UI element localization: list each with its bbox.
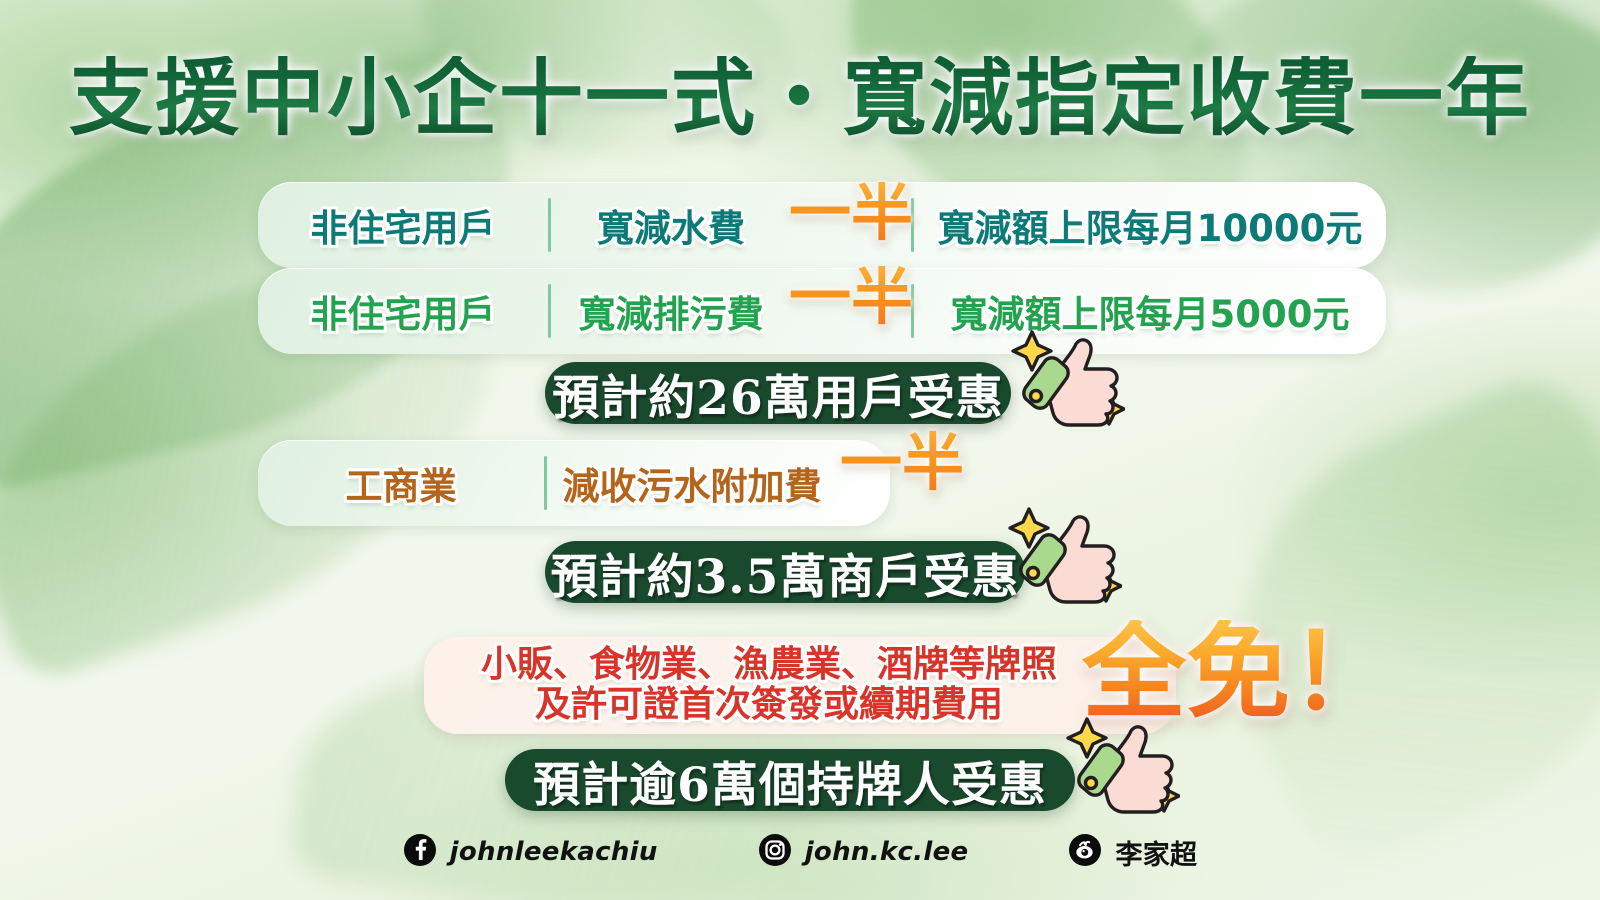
social-weibo[interactable]: 李家超 <box>1068 833 1197 872</box>
row-3-measure: 減收污水附加費 <box>547 456 837 510</box>
license-fee-text: 小販、食物業、漁農業、酒牌等牌照 及許可證首次簽發或續期費用 <box>424 645 1114 726</box>
social-facebook[interactable]: johnleekachiu <box>403 833 658 871</box>
row-3-user-type: 工商業 <box>258 456 544 510</box>
row-2-user-type: 非住宅用戶 <box>258 284 548 338</box>
poster-canvas: 支援中小企十一式・寬減指定收費一年 非住宅用戶 寬減水費 一半 寬減額上限每月1… <box>0 0 1600 900</box>
row-2-amount: 一半 <box>789 266 913 328</box>
benefit-banner-1: 預計約26萬用戶受惠 <box>545 362 1011 424</box>
row-2-amount-wrap: 一半 <box>791 280 911 342</box>
benefit-banner-2: 預計約3.5萬商戶受惠 <box>545 541 1025 603</box>
row-2-cap: 寬減額上限每月5000元 <box>914 284 1386 338</box>
row-3-amount: 一半 <box>840 426 964 499</box>
row-1-measure: 寬減水費 <box>551 198 791 252</box>
row-1-amount: 一半 <box>789 182 913 244</box>
facebook-icon <box>403 833 437 871</box>
benefit-row-1-content: 非住宅用戶 寬減水費 一半 寬減額上限每月10000元 <box>258 182 1386 268</box>
row-1-user-type: 非住宅用戶 <box>258 198 548 252</box>
facebook-handle: johnleekachiu <box>450 837 658 867</box>
row-1-cap: 寬減額上限每月10000元 <box>914 198 1386 252</box>
benefit-banner-3-text: 預計逾6萬個持牌人受惠 <box>533 746 1047 815</box>
license-fee-line-1: 小販、食物業、漁農業、酒牌等牌照 <box>481 645 1057 685</box>
benefit-row-2-content: 非住宅用戶 寬減排污費 一半 寬減額上限每月5000元 <box>258 268 1386 354</box>
instagram-icon <box>758 833 792 871</box>
license-fee-highlight: 全免！ <box>1082 620 1394 724</box>
row-1-amount-wrap: 一半 <box>791 194 911 256</box>
row-2-measure: 寬減排污費 <box>551 284 791 338</box>
benefit-banner-3: 預計逾6萬個持牌人受惠 <box>505 749 1075 811</box>
license-fee-line-2: 及許可證首次簽發或續期費用 <box>535 685 1003 725</box>
benefit-row-3-content: 工商業 減收污水附加費 <box>258 440 890 526</box>
benefit-banner-1-text: 預計約26萬用戶受惠 <box>552 359 1003 428</box>
social-instagram[interactable]: john.kc.lee <box>758 833 969 871</box>
row-3-amount-wrap: 一半 <box>840 432 964 494</box>
weibo-handle: 李家超 <box>1115 833 1197 872</box>
poster-title: 支援中小企十一式・寬減指定收費一年 <box>0 56 1600 140</box>
weibo-icon <box>1068 833 1102 871</box>
instagram-handle: john.kc.lee <box>805 837 969 867</box>
benefit-banner-2-text: 預計約3.5萬商戶受惠 <box>551 538 1020 607</box>
social-footer: johnleekachiu john.kc.lee <box>0 822 1600 882</box>
